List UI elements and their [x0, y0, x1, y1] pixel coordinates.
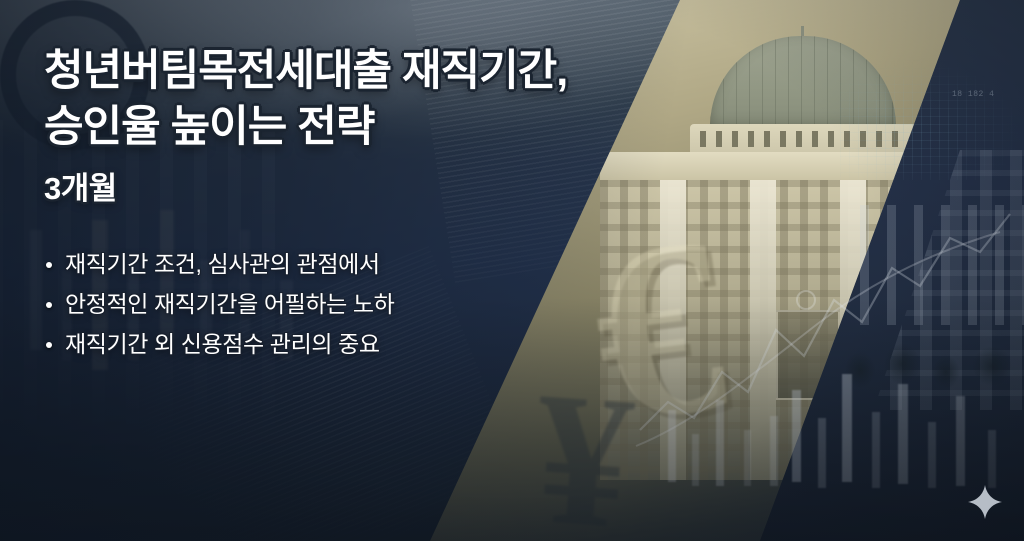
page-title: 청년버팀목전세대출 재직기간, 승인율 높이는 전략: [44, 44, 684, 156]
list-item: 안정적인 재직기간을 어필하는 노하: [44, 290, 684, 318]
bullet-list: 재직기간 조건, 심사관의 관점에서 안정적인 재직기간을 어필하는 노하 재직…: [44, 250, 684, 358]
list-item: 재직기간 외 신용점수 관리의 중요: [44, 330, 684, 358]
list-item: 재직기간 조건, 심사관의 관점에서: [44, 250, 684, 278]
thumbnail-slide: € ¥ 18 182 4 청년버팀목전세대출 재직기간, 승인율 높이는 전략 …: [0, 0, 1024, 541]
slide-subtitle: 3개월: [44, 172, 684, 206]
sparkle-icon: [967, 484, 1003, 520]
slide-content: 청년버팀목전세대출 재직기간, 승인율 높이는 전략 3개월 재직기간 조건, …: [44, 44, 684, 370]
